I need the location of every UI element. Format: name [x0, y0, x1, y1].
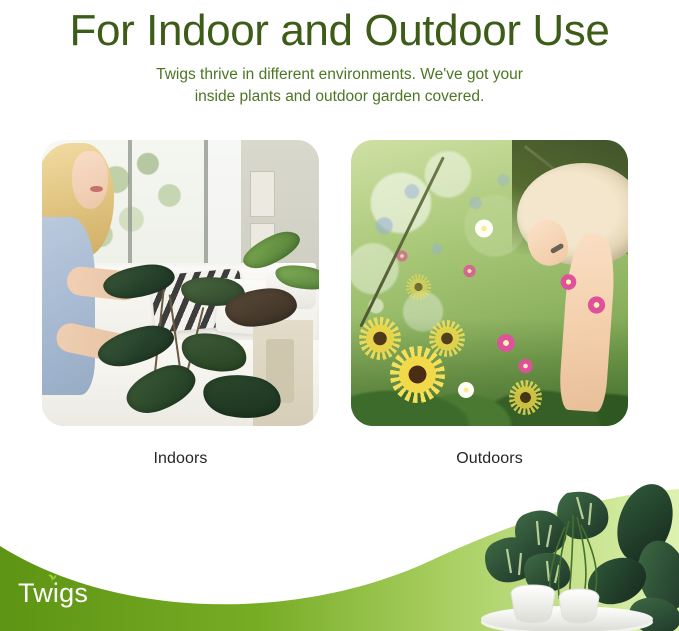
caption-outdoors: Outdoors: [351, 450, 628, 468]
window-mullion: [204, 140, 208, 272]
subtitle-line-1: Twigs thrive in different environments. …: [0, 64, 679, 86]
pink-flower: [462, 263, 477, 279]
pink-flower: [586, 294, 607, 315]
window-mullion: [128, 140, 132, 272]
outdoor-image-card: [351, 140, 628, 426]
pink-flower: [559, 272, 578, 292]
person-face: [72, 151, 108, 208]
page-title: For Indoor and Outdoor Use: [0, 2, 679, 60]
caption-row: Indoors Outdoors: [42, 450, 628, 468]
outdoor-photo: [351, 140, 628, 426]
pink-flower: [517, 357, 534, 374]
white-flower: [456, 380, 475, 400]
page-subtitle: Twigs thrive in different environments. …: [0, 64, 679, 108]
white-flower: [473, 217, 495, 240]
indoor-image-card: [42, 140, 319, 426]
sunflower: [509, 380, 542, 414]
sunflower: [390, 346, 445, 403]
brand-banner: Twigs: [0, 481, 679, 631]
feature-image-row: [42, 140, 628, 426]
sunflower: [359, 317, 401, 360]
caption-indoors: Indoors: [42, 450, 319, 468]
product-feature-page: For Indoor and Outdoor Use Twigs thrive …: [0, 0, 679, 631]
leaf-sprout-icon: [47, 573, 57, 583]
potted-plants-illustration: [449, 481, 679, 631]
subtitle-line-2: inside plants and outdoor garden covered…: [0, 86, 679, 108]
indoor-photo: [42, 140, 319, 426]
wall-frame: [250, 171, 275, 217]
person-shirt: [42, 217, 95, 394]
